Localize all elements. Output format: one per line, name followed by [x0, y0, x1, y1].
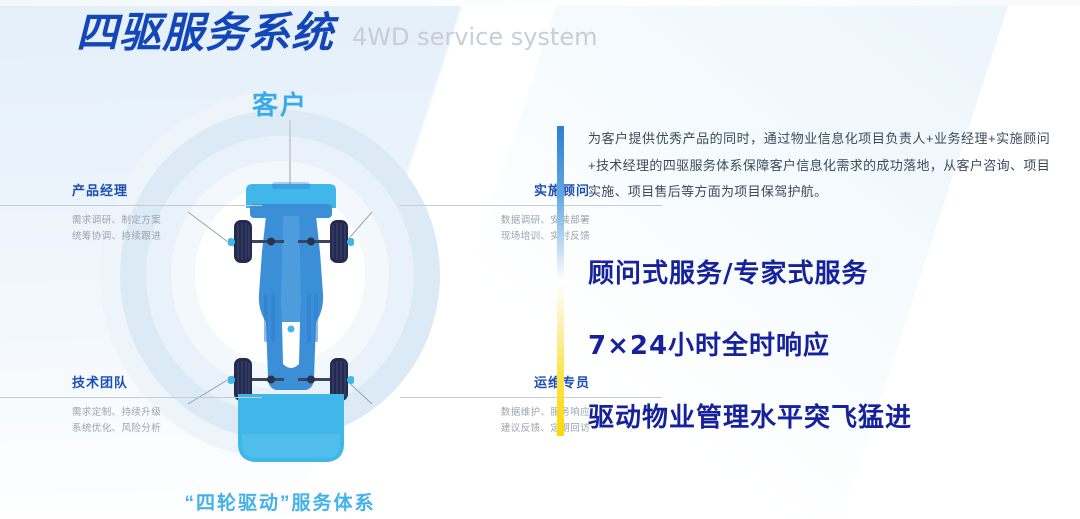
- quadrant-desc-line-1: 需求定制、持续升级: [72, 405, 262, 421]
- quadrant-desc-line-2: 系统优化、风险分析: [72, 421, 262, 437]
- page-header: 四驱服务系统 4WD service system: [76, 12, 598, 54]
- quadrant-product-manager: 产品经理 需求调研、制定方案 统筹协调、持续跟进: [72, 180, 262, 244]
- right-content-panel: 为客户提供优秀产品的同时，通过物业信息化项目负责人+业务经理+实施顾问+技术经理…: [556, 0, 1080, 519]
- diagram-caption: “四轮驱动”服务体系: [0, 488, 560, 515]
- headline-2: 7×24小时全时响应: [588, 325, 830, 362]
- 4wd-diagram: 客户: [0, 60, 560, 519]
- quadrant-title: 技术团队: [72, 372, 262, 391]
- page-title: 四驱服务系统: [76, 12, 334, 54]
- quadrant-rule: [0, 205, 262, 206]
- quadrant-technical-team: 技术团队 需求定制、持续升级 系统优化、风险分析: [72, 372, 262, 436]
- quadrant-desc-line-2: 统筹协调、持续跟进: [72, 229, 262, 245]
- quadrant-title: 产品经理: [72, 180, 262, 199]
- headline-1: 顾问式服务/专家式服务: [588, 253, 869, 290]
- accent-gradient-bar: [557, 126, 564, 436]
- headline-3: 驱动物业管理水平突飞猛进: [588, 397, 912, 434]
- description-paragraph: 为客户提供优秀产品的同时，通过物业信息化项目负责人+业务经理+实施顾问+技术经理…: [588, 126, 1050, 206]
- quadrant-desc-line-1: 需求调研、制定方案: [72, 213, 262, 229]
- quadrant-rule: [0, 397, 262, 398]
